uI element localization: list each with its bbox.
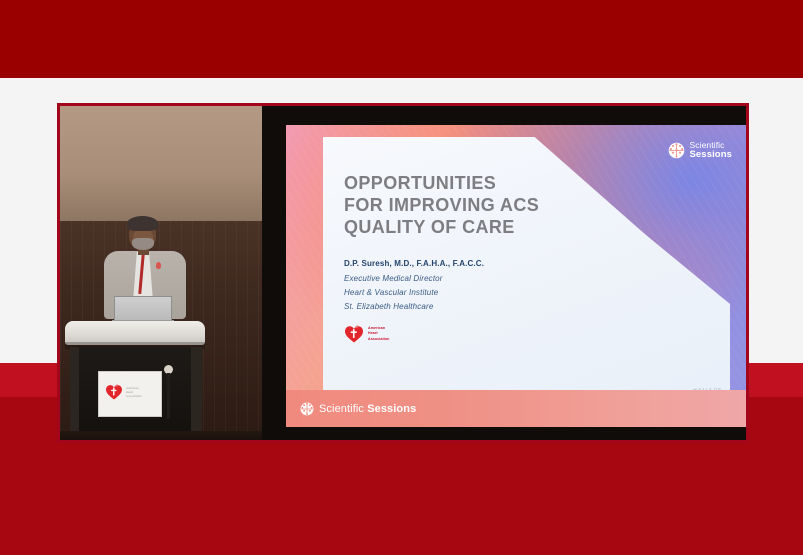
slide-footer-bar: Scientific Sessions <box>286 390 746 427</box>
aha-wordmark: American Heart Association <box>368 326 389 342</box>
slide-title-line-3: QUALITY OF CARE <box>344 217 644 239</box>
photo-frame: Scientific Sessions OPPORTUNITIES FOR IM… <box>57 103 749 443</box>
slide-title-line-2: FOR IMPROVING ACS <box>344 195 644 217</box>
stage-floor <box>60 431 262 440</box>
podium-aha-wordmark: American Heart Association <box>126 386 142 399</box>
podium-right-edge <box>190 347 202 440</box>
speaker-lapel-pin <box>156 262 161 269</box>
globe-icon <box>300 402 314 416</box>
laptop <box>114 296 172 322</box>
speaker-name: D.P. Suresh, M.D., F.A.H.A., F.A.C.C. <box>344 259 634 268</box>
top-red-band <box>0 0 803 78</box>
scientific-sessions-logo-top: Scientific Sessions <box>668 141 732 159</box>
speaker-title: Executive Medical Director <box>344 274 634 283</box>
speaker-and-podium: American Heart Association <box>60 106 262 440</box>
scientific-sessions-wordmark: Scientific Sessions <box>689 141 732 159</box>
page-background: Scientific Sessions OPPORTUNITIES FOR IM… <box>0 0 803 555</box>
speaker-hair <box>127 216 158 231</box>
microphone-stem <box>167 373 170 419</box>
aha-logo-slide: American Heart Association <box>344 325 389 343</box>
globe-icon <box>668 142 685 159</box>
speaker-organization: St. Elizabeth Healthcare <box>344 302 634 311</box>
aha-line-3: Association <box>368 337 389 342</box>
aha-heart-torch-icon <box>105 384 123 400</box>
presentation-slide: Scientific Sessions OPPORTUNITIES FOR IM… <box>286 125 746 427</box>
footer-word-1: Scientific <box>319 403 364 415</box>
ss-line-2: Sessions <box>689 150 732 160</box>
speaker-beard <box>132 238 154 250</box>
projection-screen-bezel: Scientific Sessions OPPORTUNITIES FOR IM… <box>262 106 746 440</box>
footer-wordmark: Scientific Sessions <box>319 403 416 415</box>
speaker-institute: Heart & Vascular Institute <box>344 288 634 297</box>
conference-photo: Scientific Sessions OPPORTUNITIES FOR IM… <box>60 106 746 440</box>
podium-aha-line-3: Association <box>126 394 142 398</box>
slide-title-line-1: OPPORTUNITIES <box>344 173 644 195</box>
speaker-credentials: D.P. Suresh, M.D., F.A.H.A., F.A.C.C. Ex… <box>344 259 634 316</box>
podium-aha-sign: American Heart Association <box>98 371 162 417</box>
footer-word-2: Sessions <box>367 403 416 415</box>
slide-title: OPPORTUNITIES FOR IMPROVING ACS QUALITY … <box>344 173 644 239</box>
podium-sign-content: American Heart Association <box>105 384 142 400</box>
aha-heart-torch-icon <box>344 325 364 343</box>
